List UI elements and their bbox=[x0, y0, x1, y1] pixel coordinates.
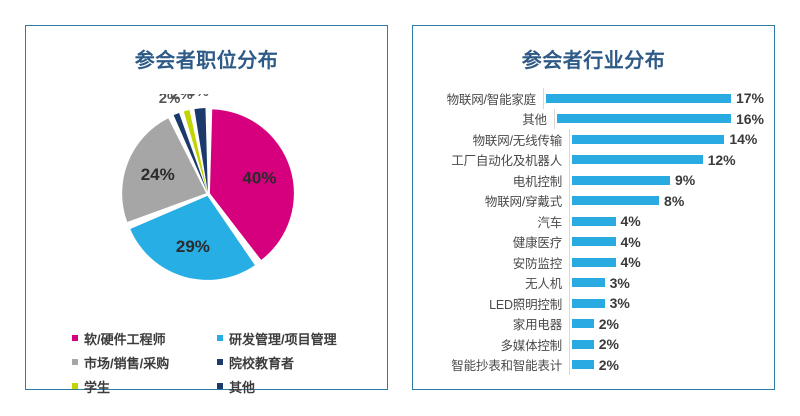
pie-legend: 软/硬件工程师研发管理/项目管理市场/销售/采购院校教育者学生其他 bbox=[72, 326, 372, 398]
bar-category-label: 安防监控 bbox=[423, 253, 569, 272]
bar-track: 14% bbox=[569, 129, 764, 150]
bar-fill bbox=[572, 278, 605, 287]
bar-track: 2% bbox=[569, 334, 764, 355]
bar-value-label: 2% bbox=[599, 357, 619, 373]
bar-value-label: 9% bbox=[675, 172, 695, 188]
pie-legend-item[interactable]: 市场/销售/采购 bbox=[72, 353, 217, 372]
pie-slice-value-label: 40% bbox=[242, 168, 276, 187]
bar-track: 4% bbox=[569, 252, 764, 273]
bar-chart-graphic: 物联网/智能家庭17%其他16%物联网/无线传输14%工厂自动化及机器人12%电… bbox=[423, 88, 764, 375]
bar-fill bbox=[546, 94, 731, 103]
bar-category-label: 电机控制 bbox=[423, 171, 569, 190]
bar-category-label: 物联网/穿戴式 bbox=[423, 191, 569, 210]
bar-track: 16% bbox=[554, 109, 764, 130]
bar-row: LED照明控制3% bbox=[423, 293, 764, 314]
bar-value-label: 4% bbox=[621, 213, 641, 229]
pie-chart-panel: 参会者职位分布 40%29%24%2%2%3% 软/硬件工程师研发管理/项目管理… bbox=[25, 25, 388, 390]
bar-category-label: 多媒体控制 bbox=[423, 335, 569, 354]
pie-legend-item[interactable]: 院校教育者 bbox=[217, 353, 372, 372]
bar-category-label: 工厂自动化及机器人 bbox=[423, 150, 569, 169]
pie-legend-item-label: 研发管理/项目管理 bbox=[229, 329, 337, 348]
pie-legend-item[interactable]: 其他 bbox=[217, 377, 372, 396]
bar-row: 多媒体控制2% bbox=[423, 334, 764, 355]
bar-row: 电机控制9% bbox=[423, 170, 764, 191]
bar-row: 安防监控4% bbox=[423, 252, 764, 273]
pie-legend-item[interactable]: 研发管理/项目管理 bbox=[217, 329, 372, 348]
bar-row: 物联网/穿戴式8% bbox=[423, 191, 764, 212]
pie-chart-graphic: 40%29%24%2%2%3% bbox=[86, 94, 331, 294]
bar-chart-panel: 参会者行业分布 物联网/智能家庭17%其他16%物联网/无线传输14%工厂自动化… bbox=[412, 25, 775, 390]
bar-value-label: 12% bbox=[708, 152, 736, 168]
legend-swatch-icon bbox=[217, 359, 223, 365]
bar-row: 无人机3% bbox=[423, 273, 764, 294]
pie-legend-item[interactable]: 学生 bbox=[72, 377, 217, 396]
bar-track: 8% bbox=[569, 191, 764, 212]
bar-track: 2% bbox=[569, 355, 764, 376]
pie-slice-value-label: 3% bbox=[187, 94, 209, 100]
pie-slice-value-label: 29% bbox=[176, 237, 210, 256]
bar-fill bbox=[572, 319, 594, 328]
bar-category-label: 家用电器 bbox=[423, 314, 569, 333]
bar-fill bbox=[572, 196, 659, 205]
bar-track: 17% bbox=[543, 88, 764, 109]
bar-row: 其他16% bbox=[423, 109, 764, 130]
bar-row: 物联网/智能家庭17% bbox=[423, 88, 764, 109]
bar-track: 3% bbox=[569, 273, 764, 294]
bar-value-label: 4% bbox=[621, 234, 641, 250]
bar-fill bbox=[572, 360, 594, 369]
pie-legend-item[interactable]: 软/硬件工程师 bbox=[72, 329, 217, 348]
bar-category-label: 无人机 bbox=[423, 273, 569, 292]
bar-track: 12% bbox=[569, 150, 764, 171]
legend-swatch-icon bbox=[217, 383, 223, 389]
bar-track: 4% bbox=[569, 211, 764, 232]
bar-row: 智能抄表和智能表计2% bbox=[423, 355, 764, 376]
bar-fill bbox=[572, 135, 724, 144]
bar-fill bbox=[557, 114, 731, 123]
bar-row: 汽车4% bbox=[423, 211, 764, 232]
bar-row: 家用电器2% bbox=[423, 314, 764, 335]
bar-value-label: 8% bbox=[664, 193, 684, 209]
bar-track: 2% bbox=[569, 314, 764, 335]
bar-value-label: 2% bbox=[599, 316, 619, 332]
bar-value-label: 4% bbox=[621, 254, 641, 270]
pie-legend-item-label: 其他 bbox=[229, 377, 255, 396]
bar-track: 3% bbox=[569, 293, 764, 314]
bar-row: 健康医疗4% bbox=[423, 232, 764, 253]
pie-chart-title: 参会者职位分布 bbox=[26, 44, 387, 73]
bar-category-label: 汽车 bbox=[423, 212, 569, 231]
bar-fill bbox=[572, 299, 605, 308]
bar-fill bbox=[572, 217, 616, 226]
bar-value-label: 2% bbox=[599, 336, 619, 352]
bar-row: 工厂自动化及机器人12% bbox=[423, 150, 764, 171]
pie-legend-item-label: 软/硬件工程师 bbox=[84, 329, 166, 348]
bar-category-label: 智能抄表和智能表计 bbox=[423, 355, 569, 374]
bar-category-label: 物联网/智能家庭 bbox=[423, 89, 543, 108]
bar-category-label: 物联网/无线传输 bbox=[423, 130, 569, 149]
pie-svg: 40%29%24%2%2%3% bbox=[86, 94, 331, 294]
bar-category-label: 其他 bbox=[423, 109, 554, 128]
pie-legend-item-label: 学生 bbox=[84, 377, 110, 396]
bar-fill bbox=[572, 176, 670, 185]
bar-value-label: 17% bbox=[736, 90, 764, 106]
bar-rows: 物联网/智能家庭17%其他16%物联网/无线传输14%工厂自动化及机器人12%电… bbox=[423, 88, 764, 375]
bar-category-label: 健康医疗 bbox=[423, 232, 569, 251]
bar-fill bbox=[572, 340, 594, 349]
bar-row: 物联网/无线传输14% bbox=[423, 129, 764, 150]
legend-swatch-icon bbox=[217, 335, 223, 341]
bar-value-label: 14% bbox=[729, 131, 757, 147]
pie-slice-value-label: 24% bbox=[141, 165, 175, 184]
bar-category-label: LED照明控制 bbox=[423, 294, 569, 313]
bar-value-label: 3% bbox=[610, 295, 630, 311]
pie-legend-item-label: 市场/销售/采购 bbox=[84, 353, 169, 372]
bar-fill bbox=[572, 258, 616, 267]
bar-value-label: 3% bbox=[610, 275, 630, 291]
legend-swatch-icon bbox=[72, 383, 78, 389]
pie-legend-item-label: 院校教育者 bbox=[229, 353, 294, 372]
bar-track: 4% bbox=[569, 232, 764, 253]
bar-chart-title: 参会者行业分布 bbox=[413, 44, 774, 73]
bar-value-label: 16% bbox=[736, 111, 764, 127]
bar-fill bbox=[572, 237, 616, 246]
bar-fill bbox=[572, 155, 703, 164]
legend-swatch-icon bbox=[72, 335, 78, 341]
bar-track: 9% bbox=[569, 170, 764, 191]
legend-swatch-icon bbox=[72, 359, 78, 365]
